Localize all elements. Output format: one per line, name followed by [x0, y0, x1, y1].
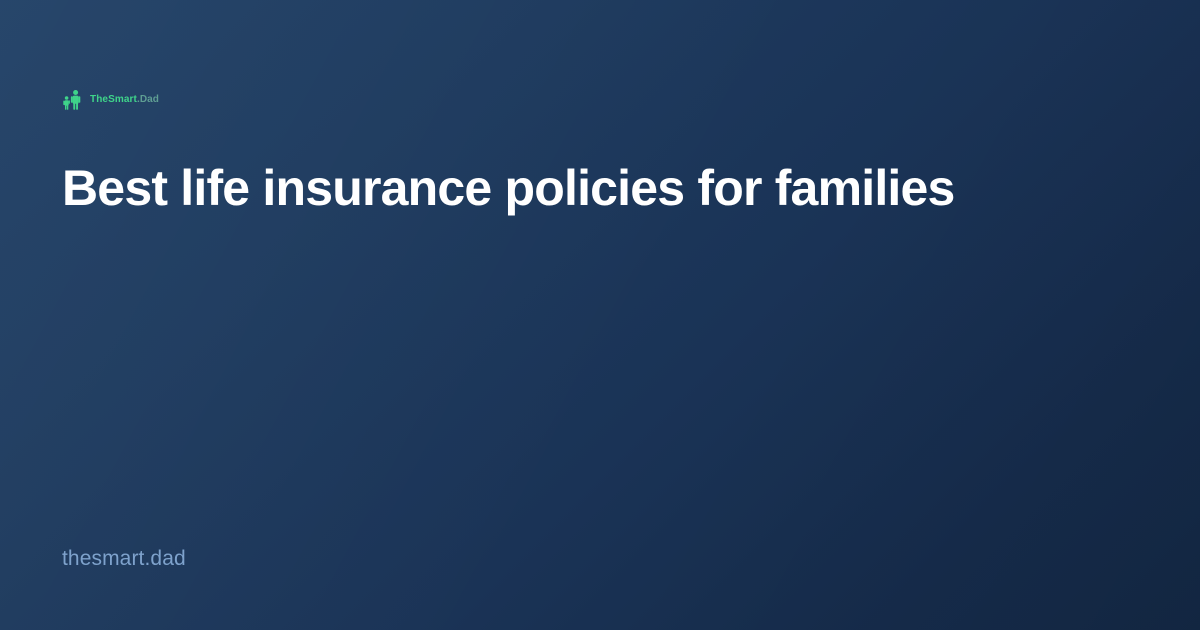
site-url: thesmart.dad [62, 546, 186, 571]
og-share-card: TheSmart.Dad Best life insurance policie… [0, 0, 1200, 630]
page-title: Best life insurance policies for familie… [62, 160, 1072, 216]
card-content: TheSmart.Dad Best life insurance policie… [0, 0, 1200, 630]
parent-and-child-icon [62, 89, 84, 111]
brand-name-secondary: .Dad [137, 95, 159, 105]
brand-name-primary: TheSmart [90, 95, 137, 105]
brand-logo[interactable]: TheSmart.Dad [62, 88, 159, 112]
brand-wordmark: TheSmart.Dad [90, 95, 159, 105]
